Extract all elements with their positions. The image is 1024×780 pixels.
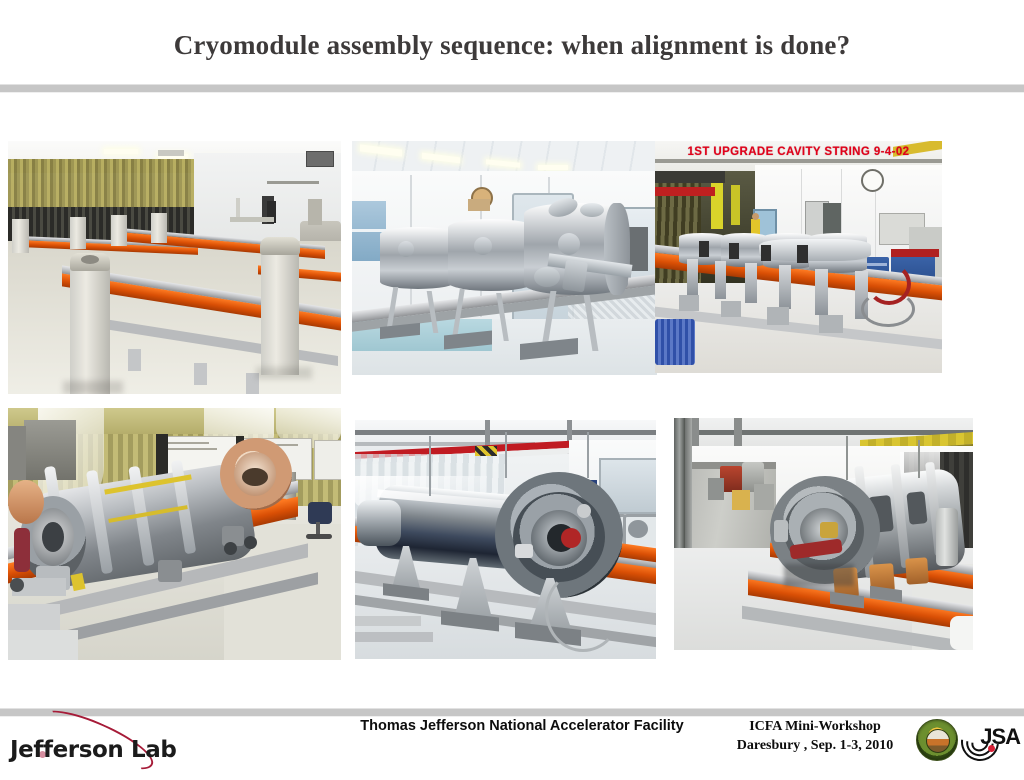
photo-cleanroom-monuments <box>8 141 341 394</box>
jsa-wordmark: JSA <box>980 724 1020 750</box>
title-divider <box>0 84 1024 93</box>
event-location-date: Daresbury , Sep. 1-3, 2010 <box>720 736 910 755</box>
photo-cavity-string-cleanroom <box>352 141 657 375</box>
page-title: Cryomodule assembly sequence: when align… <box>0 30 1024 61</box>
event-info: ICFA Mini-Workshop Daresbury , Sep. 1-3,… <box>720 717 910 755</box>
jsa-logo: JSA <box>960 720 1020 760</box>
jlab-wordmark: Jefferson Lab <box>10 737 176 763</box>
event-title: ICFA Mini-Workshop <box>720 717 910 736</box>
jefferson-lab-logo: Jefferson Lab <box>8 721 198 767</box>
photo-upgrade-cavity-string: 1ST UPGRADE CAVITY STRING 9-4-02 <box>655 141 942 373</box>
photo-caption-upgrade-string: 1ST UPGRADE CAVITY STRING 9-4-02 <box>655 146 942 158</box>
photo-completed-cryomodule <box>674 418 973 650</box>
slide-footer: Jefferson Lab Thomas Jefferson National … <box>0 715 1024 768</box>
photo-cold-mass-assembly <box>8 408 341 660</box>
doe-seal-inner <box>926 729 950 753</box>
facility-name: Thomas Jefferson National Accelerator Fa… <box>348 718 696 734</box>
photo-vacuum-vessel-insertion <box>355 420 656 659</box>
doe-seal-icon <box>916 719 958 761</box>
